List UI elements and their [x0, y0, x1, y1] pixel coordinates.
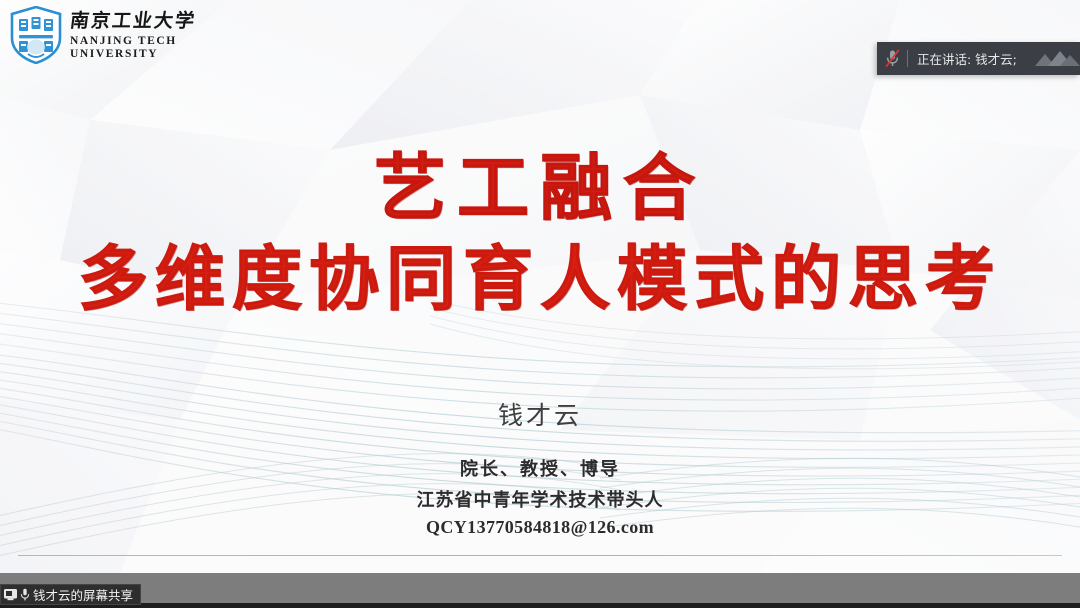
active-speaker-banner[interactable]: 正在讲话: 钱才云;	[877, 42, 1080, 75]
university-logo-text: 南京工业大学 NANJING TECH UNIVERSITY	[70, 10, 196, 60]
screen-root: 南京工业大学 NANJING TECH UNIVERSITY 艺工融合 多维度协…	[0, 0, 1080, 608]
monitor-screen-icon	[4, 589, 17, 601]
university-logo: 南京工业大学 NANJING TECH UNIVERSITY	[10, 6, 196, 64]
screen-share-indicator[interactable]: 钱才云的屏幕共享	[0, 584, 141, 605]
presenter-name: 钱才云	[0, 396, 1080, 432]
presenter-email: QCY13770584818@126.com	[0, 517, 1080, 538]
speaker-banner-divider	[907, 50, 908, 67]
university-name-en-line2: UNIVERSITY	[70, 49, 196, 61]
shared-slide-viewport: 南京工业大学 NANJING TECH UNIVERSITY 艺工融合 多维度协…	[0, 0, 1080, 573]
active-speaker-status-text: 正在讲话: 钱才云;	[917, 49, 1017, 68]
slide-bottom-rule	[18, 555, 1062, 556]
microphone-muted-icon	[877, 42, 907, 75]
video-placeholder-mountains-icon[interactable]	[1026, 42, 1080, 75]
screen-share-indicator-label: 钱才云的屏幕共享	[33, 585, 133, 604]
university-name-en-line1: NANJING TECH	[70, 36, 196, 48]
os-taskbar[interactable]	[0, 573, 1080, 603]
university-name-cn: 南京工业大学	[69, 12, 197, 31]
presenter-role: 院长、教授、博导	[0, 455, 1080, 481]
taskbar-bottom-edge	[0, 603, 1080, 608]
nanjing-tech-shield-logo-icon	[10, 6, 62, 64]
presenter-details: 院长、教授、博导 江苏省中青年学术技术带头人 QCY13770584818@12…	[0, 455, 1080, 538]
presenter-honor: 江苏省中青年学术技术带头人	[0, 486, 1080, 512]
microphone-icon	[20, 588, 30, 601]
